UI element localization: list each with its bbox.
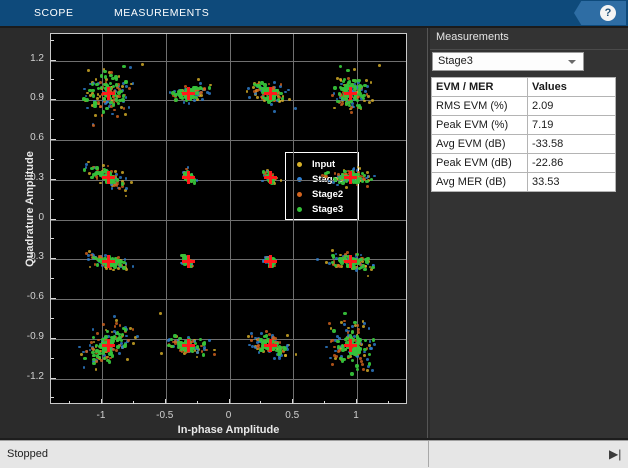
scatter-point [208, 86, 211, 89]
scatter-point [88, 172, 91, 175]
scatter-point [273, 110, 276, 113]
scatter-point [251, 335, 254, 338]
scatter-point [160, 352, 163, 355]
reference-constellation-marker [102, 255, 115, 268]
scatter-point [130, 181, 133, 184]
scatter-point [356, 368, 359, 371]
scatter-point [337, 350, 340, 353]
y-axis-minor-tick [51, 119, 54, 120]
toolstrip: SCOPE MEASUREMENTS ? [0, 0, 628, 26]
scatter-point [121, 171, 124, 174]
scatter-point [343, 320, 346, 323]
scatter-point [121, 85, 124, 88]
scatter-point [89, 266, 92, 269]
scatter-point [278, 352, 281, 355]
scatter-point [340, 104, 343, 107]
scatter-point [357, 79, 360, 82]
scatter-point [80, 353, 83, 356]
scatter-point [112, 103, 115, 106]
scatter-point [368, 327, 371, 330]
scatter-point [367, 275, 370, 278]
scatter-point [368, 353, 371, 356]
scatter-point [288, 98, 291, 101]
metric-label: Avg EVM (dB) [432, 135, 528, 154]
x-axis-tick-label: -0.5 [145, 410, 185, 421]
scatter-point [325, 175, 328, 178]
constellation-axes[interactable]: InputStage1Stage2Stage3 [50, 33, 407, 404]
scatter-point [98, 352, 101, 355]
scatter-point [371, 266, 374, 269]
scatter-point [362, 325, 365, 328]
scatter-point [373, 175, 376, 178]
scatter-point [197, 78, 200, 81]
scatter-point [200, 87, 203, 90]
scatter-point [112, 269, 115, 272]
x-axis-minor-tick [388, 401, 389, 404]
scatter-point [247, 87, 250, 90]
scatter-point [350, 372, 353, 375]
scatter-point [78, 346, 81, 349]
scatter-point [93, 341, 96, 344]
scatter-point [346, 69, 349, 72]
y-axis-tick [51, 378, 56, 379]
gridline-horizontal [51, 299, 406, 300]
y-axis-minor-tick [51, 199, 54, 200]
scatter-point [286, 334, 289, 337]
scatter-point [117, 102, 120, 105]
scatter-point [95, 368, 98, 371]
scatter-point [205, 349, 208, 352]
scatter-point [338, 92, 341, 95]
scatter-point [102, 164, 105, 167]
y-axis-minor-tick [51, 278, 54, 279]
metric-label: RMS EVM (%) [432, 97, 528, 116]
scatter-point [366, 185, 369, 188]
x-axis-tick-label: 1 [336, 410, 376, 421]
scatter-point [123, 107, 126, 110]
scatter-point [95, 83, 98, 86]
scatter-point [278, 348, 281, 351]
gridline-vertical [230, 34, 231, 403]
scatter-point [351, 330, 354, 333]
scatter-point [116, 115, 119, 118]
scatter-point [200, 91, 203, 94]
scatter-point [342, 358, 345, 361]
scatter-point [357, 324, 360, 327]
scatter-point [368, 362, 371, 365]
scatter-point [363, 322, 366, 325]
scatter-point [201, 98, 204, 101]
scatter-point [118, 99, 121, 102]
constellation-plot-panel: InputStage1Stage2Stage3 -1-0.500.511.20.… [0, 28, 426, 438]
legend-label: Stage2 [312, 187, 343, 202]
source-select[interactable]: Stage3 [432, 52, 584, 71]
x-axis-tick [165, 399, 166, 404]
legend-marker-icon [297, 162, 302, 167]
legend-marker-icon [297, 207, 302, 212]
scatter-point [92, 362, 95, 365]
scatter-point [366, 85, 369, 88]
scatter-point [88, 250, 91, 253]
scatter-point [316, 258, 319, 261]
scatter-point [115, 322, 118, 325]
table-row[interactable]: Avg MER (dB)33.53 [432, 173, 616, 192]
scatter-point [283, 347, 286, 350]
scatter-point [358, 347, 361, 350]
scatter-point [363, 268, 366, 271]
scatter-point [251, 345, 254, 348]
x-axis-tick-label: 0 [209, 410, 249, 421]
scatter-point [132, 328, 135, 331]
measurements-panel-title: Measurements [436, 31, 509, 43]
scatter-point [92, 358, 95, 361]
scope-window: SCOPE MEASUREMENTS ? InputStage1Stage2St… [0, 0, 628, 468]
x-axis-title: In-phase Amplitude [50, 424, 407, 436]
scatter-point [339, 65, 342, 68]
scatter-point [83, 357, 86, 360]
scatter-point [364, 339, 367, 342]
scatter-point [122, 266, 125, 269]
scatter-point [86, 107, 89, 110]
scatter-point [358, 351, 361, 354]
scatter-point [362, 368, 365, 371]
help-button[interactable]: ? [574, 1, 626, 25]
scatter-point [278, 357, 281, 360]
tab-scope[interactable]: SCOPE [26, 0, 82, 26]
measurements-table: EVM / MER Values RMS EVM (%)2.09Peak EVM… [431, 77, 616, 192]
scatter-point [119, 324, 122, 327]
scatter-point [90, 176, 93, 179]
scatter-point [253, 90, 256, 93]
column-header-values: Values [528, 78, 616, 97]
scatter-point [91, 83, 94, 86]
scatter-point [287, 89, 290, 92]
scatter-point [118, 187, 121, 190]
y-axis-minor-tick [51, 79, 54, 80]
reference-constellation-marker [344, 87, 357, 100]
scatter-point [256, 96, 259, 99]
scatter-point [96, 263, 99, 266]
scatter-point [336, 100, 339, 103]
scatter-point [213, 349, 216, 352]
scatter-point [331, 249, 334, 252]
scatter-point [330, 340, 333, 343]
scatter-point [132, 342, 135, 345]
scatter-point [359, 258, 362, 261]
gridline-horizontal [51, 61, 406, 62]
scatter-point [114, 325, 117, 328]
scatter-point [350, 111, 353, 114]
scatter-point [91, 347, 94, 350]
scatter-point [118, 95, 121, 98]
metric-value: 2.09 [528, 97, 616, 116]
metric-value: -22.86 [528, 154, 616, 173]
scatter-point [92, 94, 95, 97]
legend-label: Stage3 [312, 202, 343, 217]
x-axis-minor-tick [260, 401, 261, 404]
metric-label: Peak EVM (dB) [432, 154, 528, 173]
y-axis-title: Quadrature Amplitude [24, 44, 36, 374]
tab-measurements[interactable]: MEASUREMENTS [106, 0, 217, 26]
scatter-point [90, 167, 93, 170]
scatter-point [364, 90, 367, 93]
scatter-point [295, 353, 298, 356]
scatter-point [208, 339, 211, 342]
y-axis-tick [51, 179, 56, 180]
scatter-point [118, 352, 121, 355]
gridline-vertical [166, 34, 167, 403]
measurements-panel: Measurements Stage3 EVM / MER Values RMS… [430, 28, 628, 438]
scatter-point [371, 99, 374, 102]
scatter-point [90, 341, 93, 344]
scatter-point [369, 347, 372, 350]
legend-label: Input [312, 157, 335, 172]
scatter-point [123, 344, 126, 347]
scatter-point [346, 251, 349, 254]
reference-constellation-marker [182, 87, 195, 100]
scatter-point [333, 346, 336, 349]
reference-constellation-marker [102, 171, 115, 184]
scatter-point [332, 254, 335, 257]
scatter-point [188, 102, 191, 105]
reference-constellation-marker [182, 339, 195, 352]
scatter-point [129, 66, 132, 69]
scatter-point [279, 92, 282, 95]
scatter-point [105, 107, 108, 110]
scatter-point [373, 343, 376, 346]
scatter-point [116, 178, 119, 181]
x-axis-tick [229, 399, 230, 404]
scatter-point [173, 334, 176, 337]
column-header-metric: EVM / MER [432, 78, 528, 97]
scatter-point [124, 113, 127, 116]
scatter-point [328, 322, 331, 325]
scatter-point [353, 353, 356, 356]
scatter-point [366, 171, 369, 174]
scatter-point [122, 65, 125, 68]
scatter-point [87, 258, 90, 261]
reference-constellation-marker [264, 171, 277, 184]
scatter-point [284, 354, 287, 357]
scatter-point [202, 342, 205, 345]
scatter-point [115, 83, 118, 86]
reference-constellation-marker [102, 339, 115, 352]
y-axis-tick [51, 258, 56, 259]
scatter-point [333, 86, 336, 89]
scatter-point [363, 354, 366, 357]
scatter-point [124, 328, 127, 331]
x-axis-tick [292, 399, 293, 404]
x-axis-tick-label: 0.5 [272, 410, 312, 421]
scatter-point [92, 124, 95, 127]
scatter-point [116, 345, 119, 348]
scatter-point [97, 339, 100, 342]
scatter-point [246, 90, 249, 93]
scatter-point [100, 359, 103, 362]
y-axis-tick [51, 99, 56, 100]
scatter-point [125, 80, 128, 83]
scatter-point [367, 365, 370, 368]
scatter-point [378, 64, 381, 67]
scatter-point [294, 107, 297, 110]
scatter-point [119, 90, 122, 93]
scatter-point [85, 350, 88, 353]
scatter-point [273, 81, 276, 84]
scatter-point [366, 369, 369, 372]
scatter-point [127, 339, 130, 342]
y-axis-minor-tick [51, 40, 54, 41]
metric-label: Peak EVM (%) [432, 116, 528, 135]
scatter-point [360, 254, 363, 257]
scatter-point [96, 97, 99, 100]
scatter-point [332, 329, 335, 332]
y-axis-minor-tick [51, 238, 54, 239]
scatter-point [358, 338, 361, 341]
scatter-point [159, 312, 162, 315]
scatter-point [94, 114, 97, 117]
scatter-point [342, 80, 345, 83]
scatter-point [128, 106, 131, 109]
scatter-point [329, 357, 332, 360]
scatter-point [247, 335, 250, 338]
scatter-point [260, 81, 263, 84]
legend-item: Stage2 [286, 187, 358, 202]
scatter-point [345, 186, 348, 189]
table-row[interactable]: RMS EVM (%)2.09 [432, 97, 616, 116]
table-row[interactable]: Avg EVM (dB)-33.58 [432, 135, 616, 154]
scatter-point [359, 167, 362, 170]
scatter-point [122, 261, 125, 264]
scatter-point [196, 91, 199, 94]
scatter-point [125, 335, 128, 338]
statusbar-divider [428, 441, 429, 467]
scatter-point [336, 340, 339, 343]
scatter-point [284, 91, 287, 94]
scatter-point [97, 101, 100, 104]
scatter-point [93, 102, 96, 105]
question-mark-icon: ? [600, 5, 616, 21]
scatter-point [96, 332, 99, 335]
scatter-point [361, 180, 364, 183]
scatter-point [125, 187, 128, 190]
reference-constellation-marker [182, 171, 195, 184]
scatter-point [119, 176, 122, 179]
scatter-point [336, 335, 339, 338]
panel-title-divider [430, 49, 628, 50]
status-text: Stopped [7, 441, 48, 467]
scatter-point [95, 166, 98, 169]
scatter-point [337, 345, 340, 348]
scatter-point [363, 84, 366, 87]
scatter-point [333, 177, 336, 180]
legend-item: Stage3 [286, 202, 358, 217]
y-axis-minor-tick [51, 318, 54, 319]
gridline-horizontal [51, 220, 406, 221]
x-axis-minor-tick [197, 401, 198, 404]
scatter-point [358, 106, 361, 109]
scatter-point [353, 68, 356, 71]
scatter-point [126, 358, 129, 361]
scatter-point [196, 351, 199, 354]
scatter-point [199, 338, 202, 341]
reference-constellation-marker [344, 171, 357, 184]
scatter-point [132, 82, 135, 85]
y-axis-minor-tick [51, 397, 54, 398]
scatter-point [98, 356, 101, 359]
legend-marker-icon [297, 192, 302, 197]
scatter-point [357, 331, 360, 334]
scatter-point [114, 75, 117, 78]
scatter-point [277, 98, 280, 101]
y-axis-tick [51, 298, 56, 299]
scatter-point [358, 84, 361, 87]
statusbar: Stopped ▶| [0, 440, 628, 468]
scatter-point [102, 323, 105, 326]
x-axis-tick-label: -1 [81, 410, 121, 421]
scatter-point [103, 70, 106, 73]
scatter-point [370, 81, 373, 84]
scatter-point [345, 102, 348, 105]
gridline-horizontal [51, 140, 406, 141]
scatter-point [206, 91, 209, 94]
scatter-point [113, 315, 116, 318]
scatter-point [325, 346, 328, 349]
table-row[interactable]: Peak EVM (%)7.19 [432, 116, 616, 135]
y-axis-tick [51, 338, 56, 339]
metric-value: 7.19 [528, 116, 616, 135]
scatter-point [83, 366, 86, 369]
x-axis-minor-tick [133, 401, 134, 404]
scatter-point [280, 83, 283, 86]
metric-value: 33.53 [528, 173, 616, 192]
scatter-point [111, 354, 114, 357]
y-axis-minor-tick [51, 358, 54, 359]
gridline-horizontal [51, 379, 406, 380]
scatter-point [338, 176, 341, 179]
metric-label: Avg MER (dB) [432, 173, 528, 192]
scatter-point [199, 82, 202, 85]
scatter-point [99, 81, 102, 84]
scatter-point [273, 357, 276, 360]
scatter-point [347, 81, 350, 84]
step-forward-icon[interactable]: ▶| [609, 448, 621, 460]
metric-value: -33.58 [528, 135, 616, 154]
scatter-point [106, 330, 109, 333]
x-axis-minor-tick [69, 401, 70, 404]
scatter-point [213, 353, 216, 356]
scatter-point [268, 83, 271, 86]
scatter-point [343, 323, 346, 326]
scatter-point [368, 101, 371, 104]
scatter-point [117, 337, 120, 340]
source-select-value: Stage3 [438, 53, 473, 70]
x-axis-tick [101, 399, 102, 404]
table-header-row: EVM / MER Values [432, 78, 616, 97]
scatter-point [366, 358, 369, 361]
scatter-point [178, 337, 181, 340]
scatter-point [250, 339, 253, 342]
scatter-point [365, 79, 368, 82]
reference-constellation-marker [264, 87, 277, 100]
scatter-point [174, 98, 177, 101]
y-axis-tick [51, 139, 56, 140]
scatter-point [121, 182, 124, 185]
scatter-point [351, 359, 354, 362]
reference-constellation-marker [264, 255, 277, 268]
table-row[interactable]: Peak EVM (dB)-22.86 [432, 154, 616, 173]
scatter-point [107, 165, 110, 168]
reference-constellation-marker [102, 87, 115, 100]
